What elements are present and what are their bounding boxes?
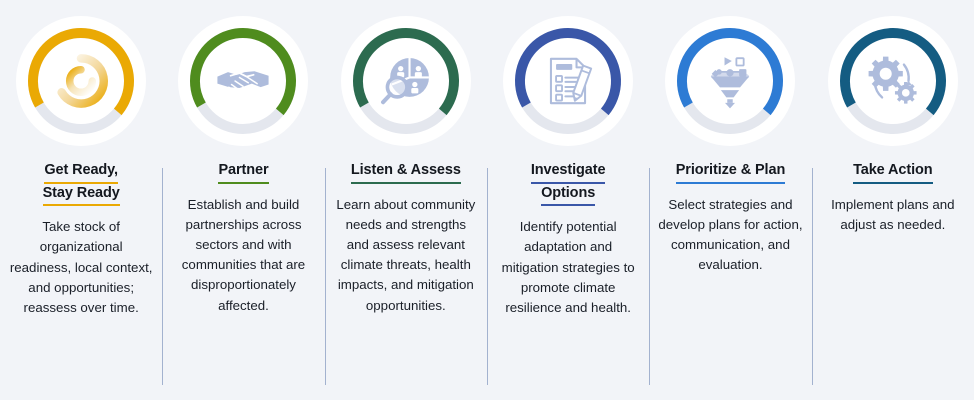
step-icon-medallion-listen-and-assess xyxy=(341,16,471,146)
step-heading-investigate-options: InvestigateOptions xyxy=(527,161,610,206)
funnel-filter-icon xyxy=(696,47,764,115)
step-heading-line: Investigate xyxy=(531,162,606,178)
step-icon-medallion-get-ready-stay-ready xyxy=(16,16,146,146)
step-heading-partner: Partner xyxy=(214,161,272,184)
gears-refresh-icon xyxy=(859,47,927,115)
step-column-investigate-options: InvestigateOptionsIdentify potential ada… xyxy=(487,0,649,400)
step-heading-line: Stay Ready xyxy=(43,185,120,201)
step-description-prioritize-and-plan: Select strategies and develop plans for … xyxy=(649,195,811,276)
climate-health-framework-infographic: Get Ready,Stay ReadyTake stock of organi… xyxy=(0,0,974,400)
step-column-take-action: Take ActionImplement plans and adjust as… xyxy=(812,0,974,400)
step-description-partner: Establish and build partnerships across … xyxy=(162,195,324,316)
step-icon-medallion-prioritize-and-plan xyxy=(665,16,795,146)
step-heading-take-action: Take Action xyxy=(849,161,936,184)
step-description-investigate-options: Identify potential adaptation and mitiga… xyxy=(487,217,649,318)
cycle-arrows-icon xyxy=(47,47,115,115)
step-icon-medallion-investigate-options xyxy=(503,16,633,146)
step-heading-line: Get Ready, xyxy=(44,162,118,178)
step-column-prioritize-and-plan: Prioritize & PlanSelect strategies and d… xyxy=(649,0,811,400)
step-description-get-ready-stay-ready: Take stock of organizational readiness, … xyxy=(0,217,162,318)
step-description-listen-and-assess: Learn about community needs and strength… xyxy=(325,195,487,316)
magnifier-community-icon xyxy=(372,47,440,115)
checklist-pencil-icon xyxy=(534,47,602,115)
step-heading-prioritize-and-plan: Prioritize & Plan xyxy=(672,161,790,184)
step-column-partner: PartnerEstablish and build partnerships … xyxy=(162,0,324,400)
step-description-take-action: Implement plans and adjust as needed. xyxy=(812,195,974,235)
handshake-icon xyxy=(209,47,277,115)
step-icon-medallion-partner xyxy=(178,16,308,146)
step-heading-get-ready-stay-ready: Get Ready,Stay Ready xyxy=(39,161,124,206)
step-column-get-ready-stay-ready: Get Ready,Stay ReadyTake stock of organi… xyxy=(0,0,162,400)
step-heading-line: Take Action xyxy=(853,162,932,178)
step-heading-line: Prioritize & Plan xyxy=(676,162,786,178)
step-heading-line: Listen & Assess xyxy=(351,162,461,178)
step-heading-line: Options xyxy=(541,185,595,201)
step-column-listen-and-assess: Listen & AssessLearn about community nee… xyxy=(325,0,487,400)
step-icon-medallion-take-action xyxy=(828,16,958,146)
step-heading-listen-and-assess: Listen & Assess xyxy=(347,161,465,184)
step-heading-line: Partner xyxy=(218,162,268,178)
